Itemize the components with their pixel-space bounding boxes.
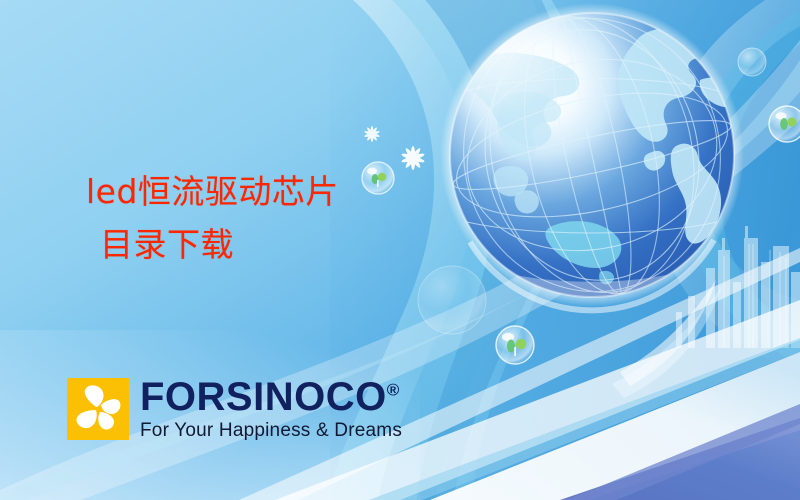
registered-trademark-icon: ® [387,381,400,400]
company-logo[interactable]: FORSINOCO® For Your Happiness & Dreams [67,378,402,440]
bubble-plain [738,48,766,76]
diagonal-light-bands [150,248,800,500]
forsinoco-pinwheel-mark [67,378,129,440]
brand-name-text: FORSINOCO [140,375,387,419]
ribbon-band [656,0,800,372]
promo-banner: led恒流驱动芯片 目录下载 FORSINOCO® For [0,0,800,500]
latitude-lines [445,10,738,301]
bubble-with-green-figure [362,106,800,364]
city-skyline-silhouette [676,226,800,348]
headline-text: led恒流驱动芯片 目录下载 [86,165,339,272]
ribbon-band [686,10,800,364]
city-skyline-silhouette [724,244,786,348]
bubble-plain [418,266,486,334]
headline-line-2: 目录下载 [86,218,339,271]
light-trail [612,286,722,398]
brand-tagline: For Your Happiness & Dreams [140,421,402,440]
earth-globe [408,0,746,316]
brand-name: FORSINOCO® [140,378,402,417]
light-trail [620,280,716,386]
longitude-lines [438,0,745,316]
continents [452,27,737,284]
ribbon-band [386,0,571,500]
flower-sparkle [364,126,425,170]
headline-line-1: led恒流驱动芯片 [86,165,339,218]
logo-wordmark: FORSINOCO® For Your Happiness & Dreams [140,378,402,440]
